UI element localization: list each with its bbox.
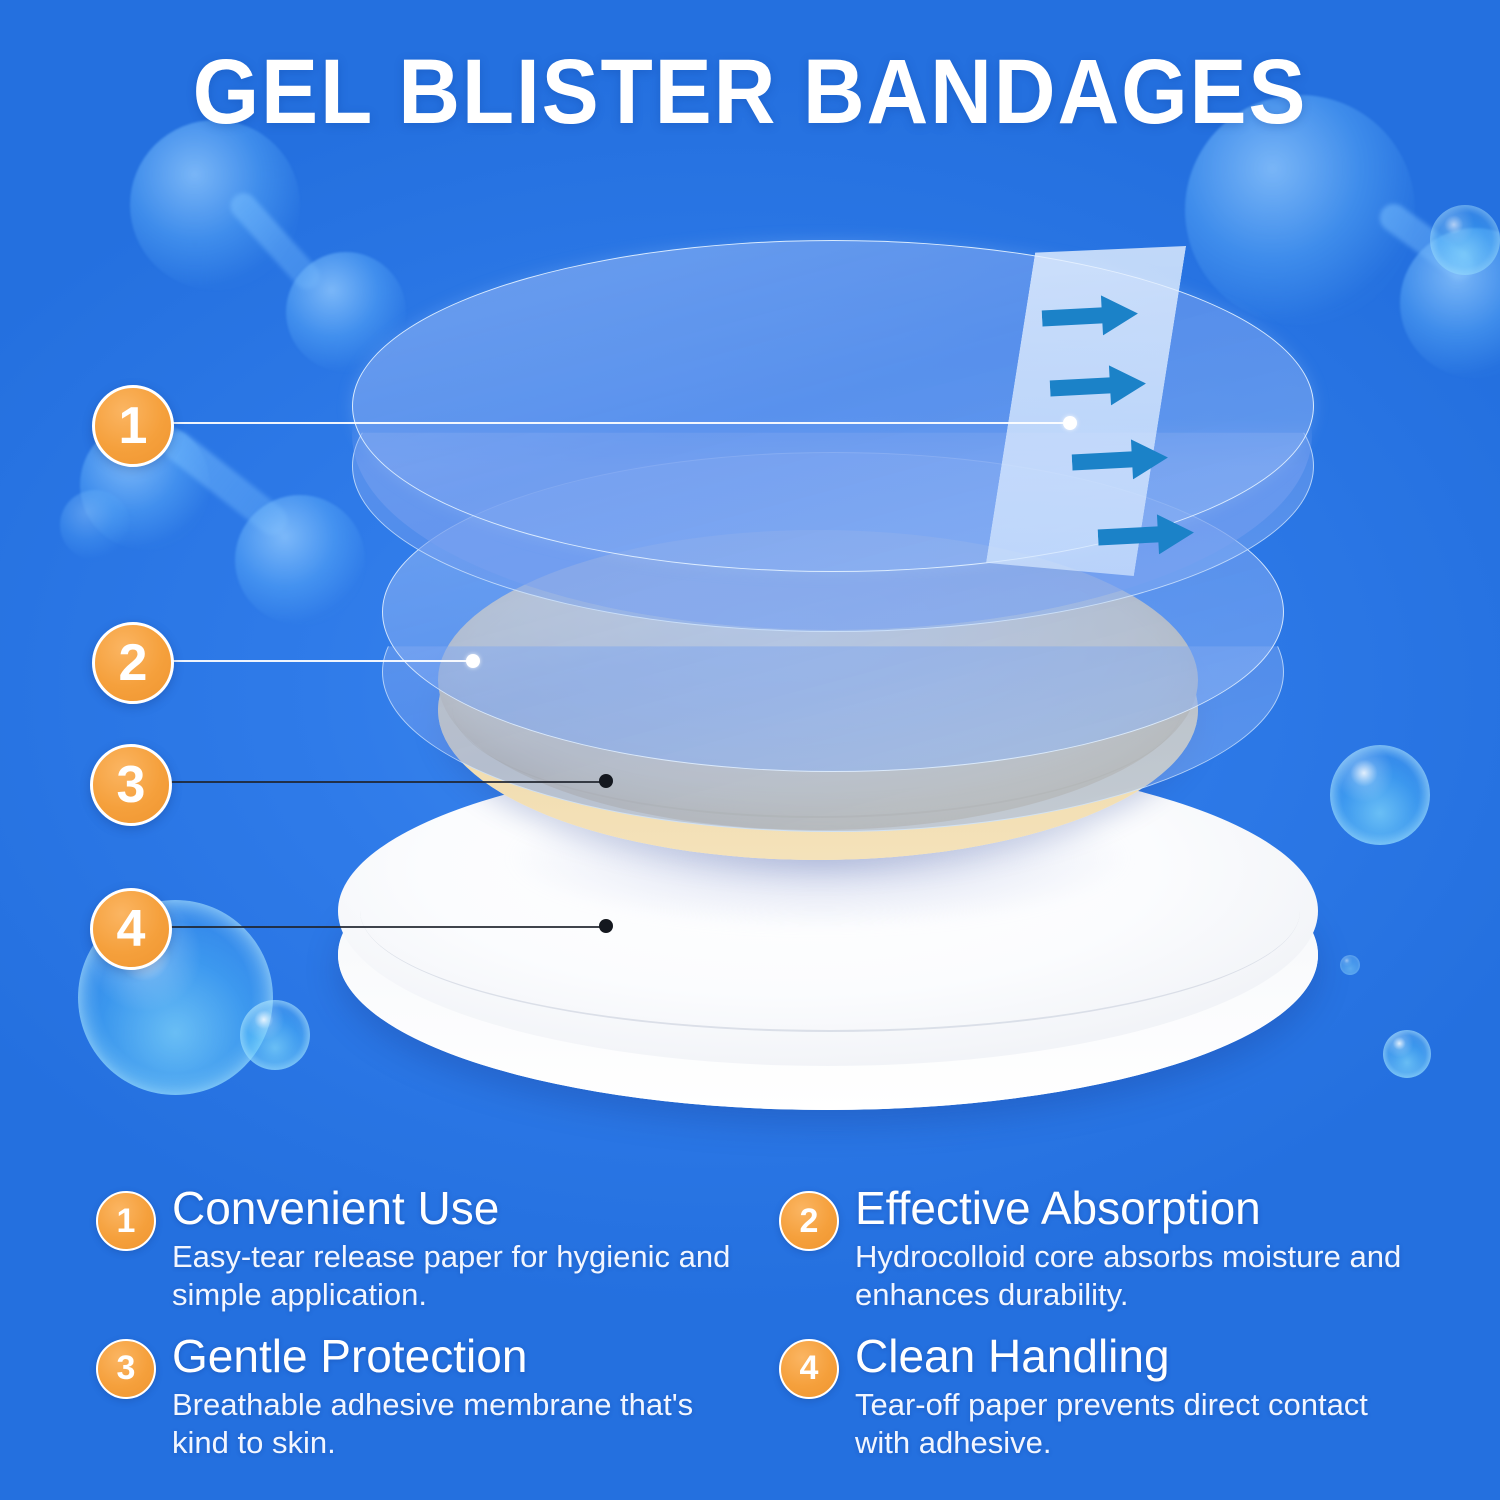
feature-badge-2-number: 2 xyxy=(800,1202,819,1241)
callout-line-3 xyxy=(166,781,606,783)
feature-item-2: 2 Effective Absorption Hydrocolloid core… xyxy=(779,1185,1416,1315)
feature-title-2: Effective Absorption xyxy=(855,1185,1416,1233)
vapor-arrow-right-icon xyxy=(1049,364,1147,409)
feature-item-4: 4 Clean Handling Tear-off paper prevents… xyxy=(779,1333,1416,1463)
feature-text-3: Gentle Protection Breathable adhesive me… xyxy=(172,1333,733,1463)
feature-item-1: 1 Convenient Use Easy-tear release paper… xyxy=(96,1185,733,1315)
callout-badge-1-number: 1 xyxy=(119,396,148,456)
callout-line-2 xyxy=(168,660,473,662)
feature-badge-4-number: 4 xyxy=(800,1349,819,1388)
callout-badge-1[interactable]: 1 xyxy=(92,385,174,467)
feature-description-1: Easy-tear release paper for hygienic and… xyxy=(172,1238,733,1315)
callout-badge-4[interactable]: 4 xyxy=(90,888,172,970)
infographic-canvas: GEL BLISTER BANDAGES xyxy=(0,0,1500,1500)
feature-badge-1: 1 xyxy=(96,1191,156,1251)
feature-title-4: Clean Handling xyxy=(855,1333,1416,1381)
feature-badge-3: 3 xyxy=(96,1339,156,1399)
feature-list: 1 Convenient Use Easy-tear release paper… xyxy=(96,1185,1416,1462)
callout-endpoint-1 xyxy=(1063,416,1077,430)
callout-badge-4-number: 4 xyxy=(117,899,146,959)
callout-badge-3[interactable]: 3 xyxy=(90,744,172,826)
callout-badge-3-number: 3 xyxy=(117,755,146,815)
callout-endpoint-3 xyxy=(599,774,613,788)
callout-endpoint-2 xyxy=(466,654,480,668)
callout-badge-2-number: 2 xyxy=(119,633,148,693)
feature-description-4: Tear-off paper prevents direct contact w… xyxy=(855,1386,1416,1463)
feature-badge-4: 4 xyxy=(779,1339,839,1399)
feature-item-3: 3 Gentle Protection Breathable adhesive … xyxy=(96,1333,733,1463)
feature-description-3: Breathable adhesive membrane that's kind… xyxy=(172,1386,733,1463)
callout-line-1 xyxy=(168,422,1073,424)
callout-line-4 xyxy=(166,926,606,928)
feature-text-2: Effective Absorption Hydrocolloid core a… xyxy=(855,1185,1416,1315)
feature-badge-1-number: 1 xyxy=(117,1202,136,1241)
vapor-arrow-right-icon xyxy=(1071,438,1169,483)
callout-endpoint-4 xyxy=(599,919,613,933)
feature-title-1: Convenient Use xyxy=(172,1185,733,1233)
feature-badge-2: 2 xyxy=(779,1191,839,1251)
feature-title-3: Gentle Protection xyxy=(172,1333,733,1381)
feature-text-4: Clean Handling Tear-off paper prevents d… xyxy=(855,1333,1416,1463)
feature-badge-3-number: 3 xyxy=(117,1349,136,1388)
feature-text-1: Convenient Use Easy-tear release paper f… xyxy=(172,1185,733,1315)
feature-description-2: Hydrocolloid core absorbs moisture and e… xyxy=(855,1238,1416,1315)
vapor-arrow-right-icon xyxy=(1097,513,1195,558)
callout-badge-2[interactable]: 2 xyxy=(92,622,174,704)
vapor-arrow-right-icon xyxy=(1041,294,1139,339)
